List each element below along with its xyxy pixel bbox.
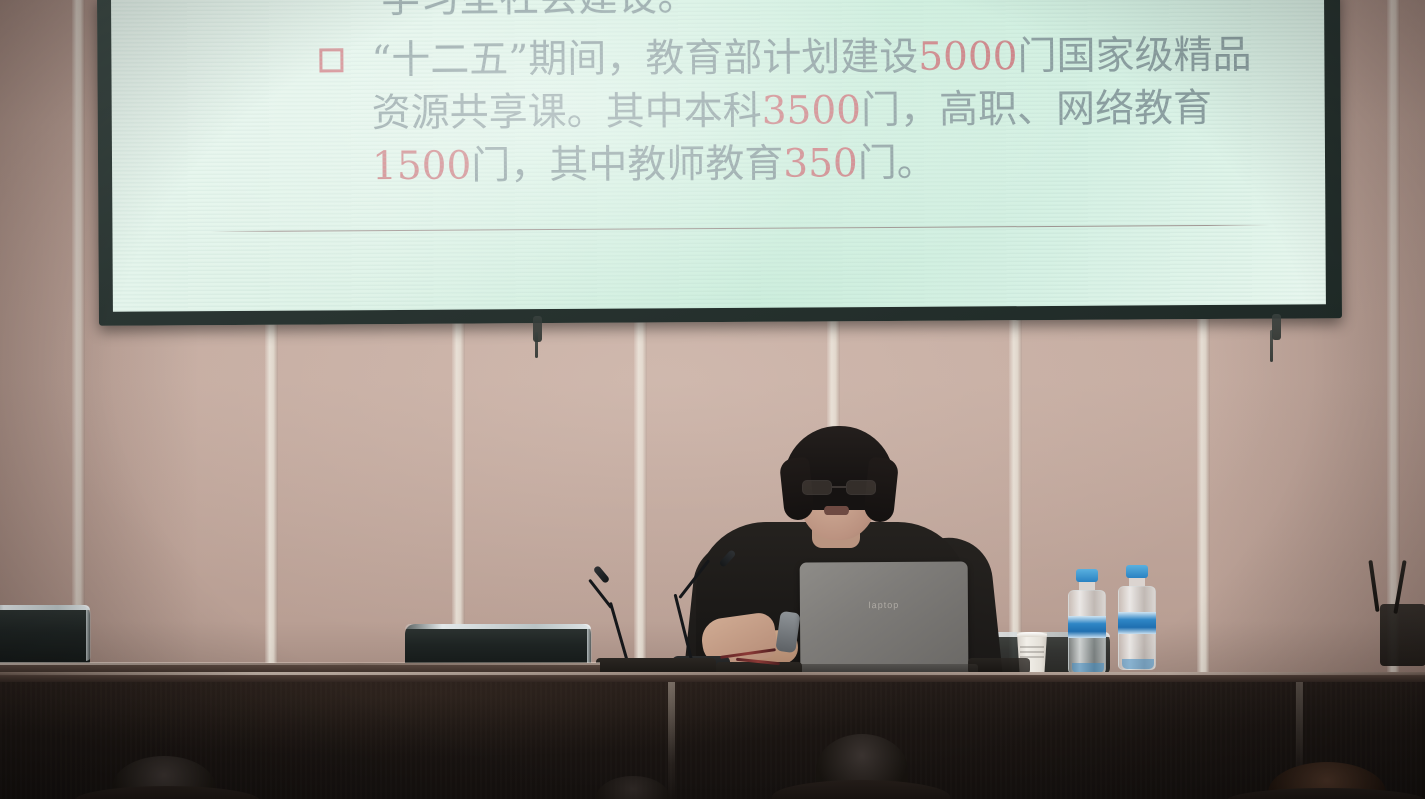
slide-line-2: 资源共享课。其中本科3500门，高职、网络教育 <box>372 81 1326 140</box>
table-edge-highlight <box>0 672 1425 675</box>
slide-line-1-number: 5000 <box>918 34 1018 80</box>
microphone-gooseneck <box>609 602 629 662</box>
slide-line-3: 1500门，其中教师教育350门。 <box>372 134 1326 193</box>
chair-side-rim <box>587 627 592 667</box>
slide-line-1-pre: “十二五”期间，教育部计划建设 <box>371 35 918 83</box>
bottle-base-tint <box>1122 659 1154 669</box>
screen-mount-hook <box>1272 314 1281 340</box>
slide-line-3-number-a: 1500 <box>372 144 472 190</box>
slide-content: 学习型社会建设。 “十二五”期间，教育部计划建设5000门国家级精品 资源共享课… <box>111 0 1326 312</box>
slide-line-1: “十二五”期间，教育部计划建设5000门国家级精品 <box>371 28 1326 87</box>
slide-line-3-post: 门。 <box>858 141 936 186</box>
water-bottle-right <box>1118 566 1156 670</box>
chair-rim <box>0 605 90 610</box>
presenter-mouth <box>824 506 849 515</box>
slide-horizontal-rule <box>210 225 1270 232</box>
table-front-seam <box>668 682 675 799</box>
bottle-cap <box>1076 569 1098 582</box>
laptop: laptop <box>800 561 969 668</box>
slide-line-2-post: 门，高职、网络教育 <box>861 86 1212 133</box>
cup-rim <box>1013 632 1051 637</box>
laptop-logo: laptop <box>869 600 900 610</box>
slide-line-2-pre: 资源共享课。其中本科 <box>372 89 762 136</box>
slide-continuation-line: 学习型社会建设。 <box>381 0 697 22</box>
projection-screen-frame: 学习型社会建设。 “十二五”期间，教育部计划建设5000门国家级精品 资源共享课… <box>97 0 1342 326</box>
table-edge-highlight-left <box>0 662 600 665</box>
wall-stripe <box>72 0 85 690</box>
eyeglass-lens-right <box>846 480 876 495</box>
slide-line-3-number-b: 350 <box>783 141 858 186</box>
bottle-label <box>1118 612 1156 634</box>
chair-rim <box>405 624 591 629</box>
water-bottle-left <box>1068 570 1106 674</box>
slide-line-3-mid: 门，其中教师教育 <box>471 142 783 189</box>
chair-side-rim <box>86 608 91 661</box>
slide-line-2-number: 3500 <box>762 88 862 134</box>
screen-mount-cord <box>1270 330 1273 362</box>
microphone-gooseneck <box>674 594 693 661</box>
eyeglasses-icon <box>802 480 876 495</box>
desk-equipment-right <box>1380 604 1425 666</box>
eyeglass-lens-left <box>802 480 832 495</box>
chair-far-left <box>0 605 90 667</box>
bullet-square-icon <box>319 48 343 72</box>
eyeglass-bridge <box>832 486 846 488</box>
lecture-hall-scene: 学习型社会建设。 “十二五”期间，教育部计划建设5000门国家级精品 资源共享课… <box>0 0 1425 799</box>
bottle-label <box>1068 616 1106 638</box>
bottle-cap <box>1126 565 1148 578</box>
projection-screen-surface: 学习型社会建设。 “十二五”期间，教育部计划建设5000门国家级精品 资源共享课… <box>111 0 1326 312</box>
slide-bullet-block: “十二五”期间，教育部计划建设5000门国家级精品 资源共享课。其中本科3500… <box>319 28 1326 193</box>
microphone-gooseneck-upper <box>678 559 710 599</box>
slide-line-1-post: 门国家级精品 <box>1017 33 1251 79</box>
screen-mount-cord <box>535 332 538 358</box>
